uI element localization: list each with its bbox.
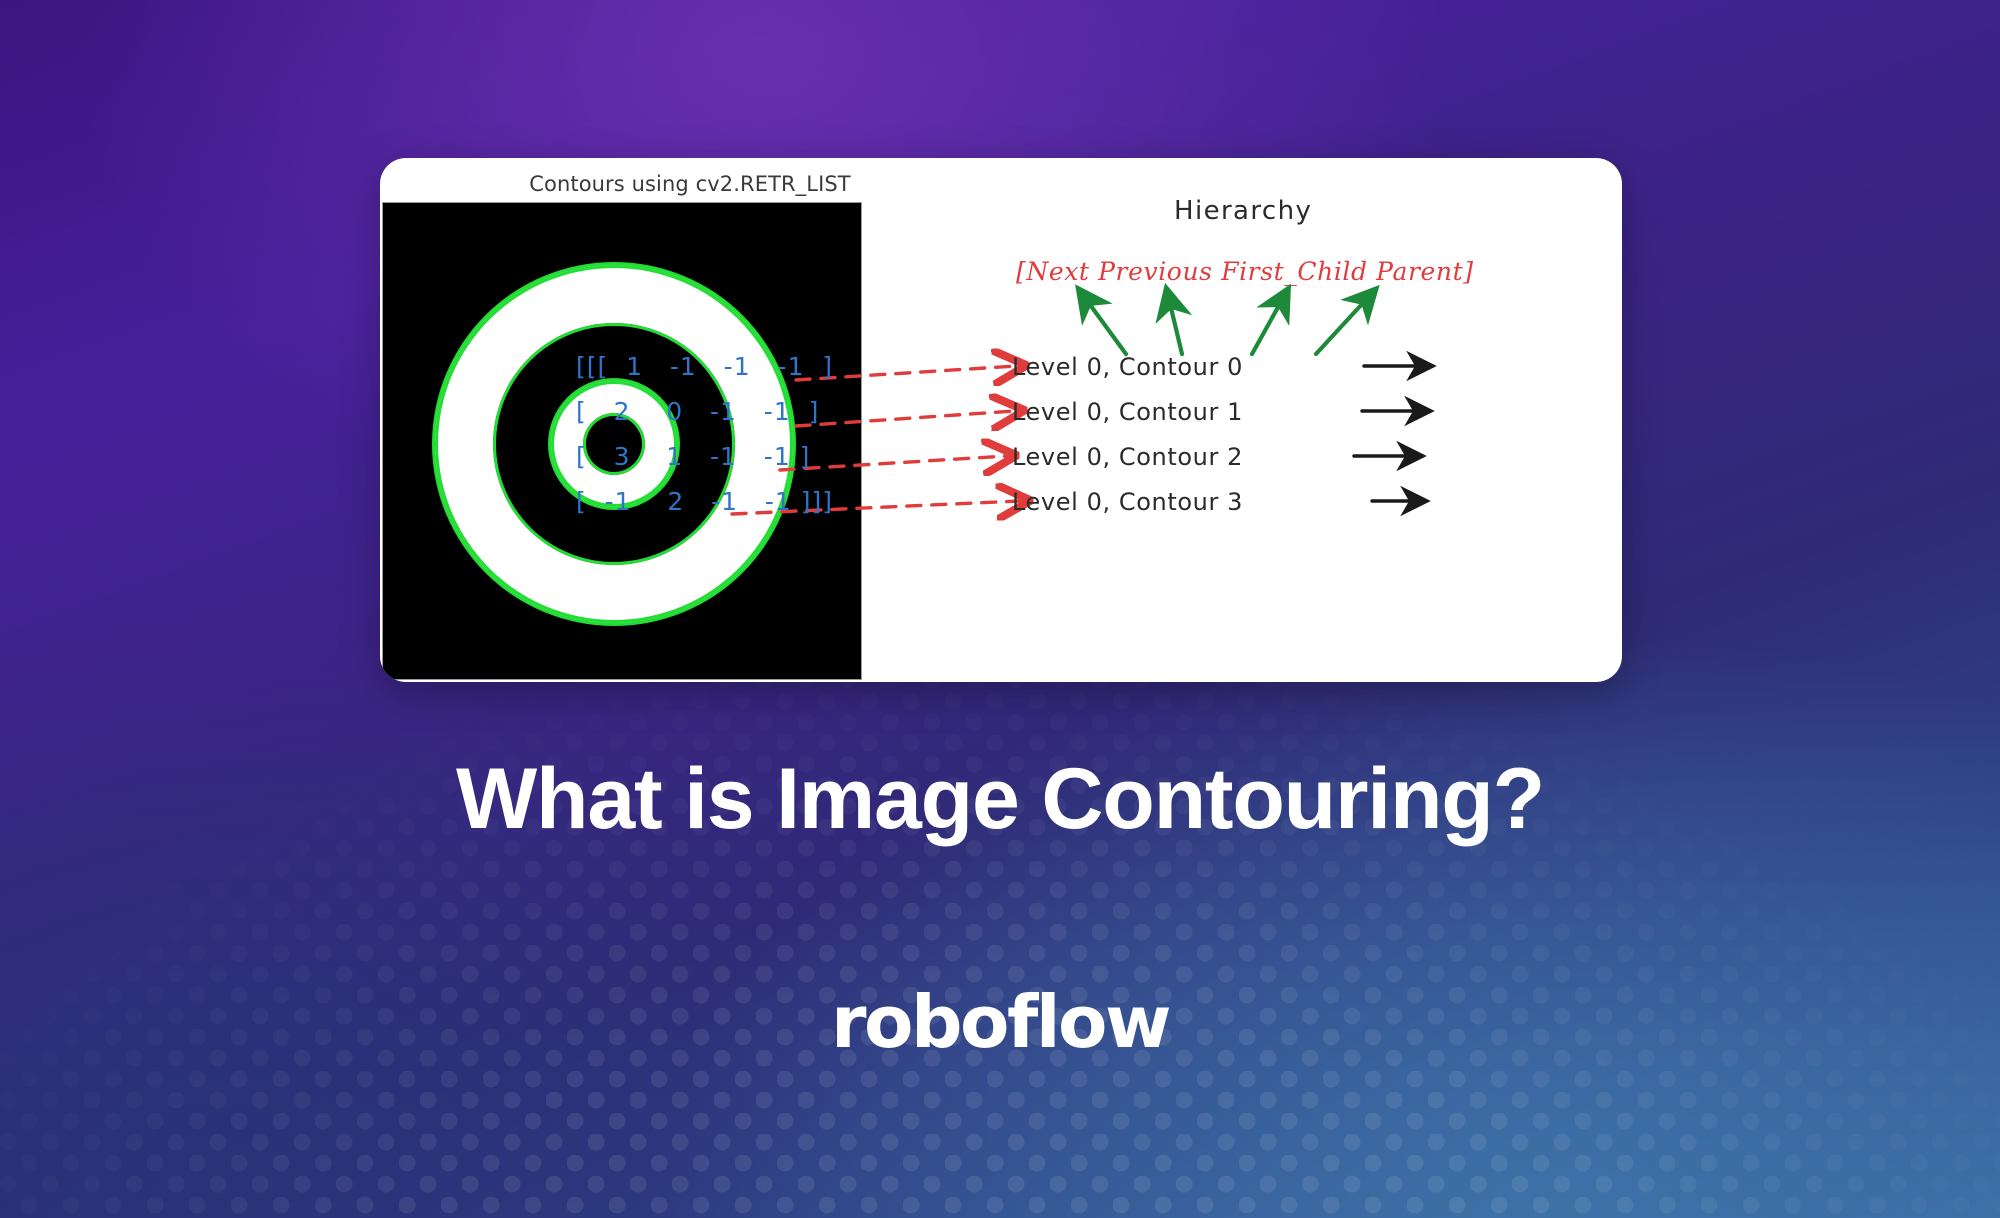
- roboflow-logo: roboflow: [0, 980, 2000, 1064]
- hierarchy-title: Hierarchy: [1174, 196, 1312, 226]
- hierarchy-row-label: Level 0, Contour 2: [1012, 443, 1243, 471]
- hierarchy-legend: [Next Previous First_Child Parent]: [1016, 257, 1474, 286]
- black-label-arrows: [1354, 366, 1430, 501]
- page-title: What is Image Contouring?: [0, 750, 2000, 849]
- hierarchy-row-code: [ 2 0 -1 -1 ]: [576, 397, 819, 426]
- hierarchy-row-code: [ -1 2 -1 -1 ]]]: [576, 487, 833, 516]
- hierarchy-row-code: [ 3 1 -1 -1 ]: [576, 442, 810, 471]
- hierarchy-row: [ 2 0 -1 -1 ] Level 0, Contour 1: [576, 389, 1243, 434]
- hierarchy-row-label: Level 0, Contour 0: [1012, 353, 1243, 381]
- hierarchy-row: [[[ 1 -1 -1 -1 ] Level 0, Contour 0: [576, 344, 1243, 389]
- hierarchy-row-label: Level 0, Contour 1: [1012, 398, 1243, 426]
- figure-title: Contours using cv2.RETR_LIST: [480, 172, 900, 196]
- hierarchy-row-code: [[[ 1 -1 -1 -1 ]: [576, 352, 833, 381]
- hierarchy-row-label: Level 0, Contour 3: [1012, 488, 1243, 516]
- figure-card: Contours using cv2.RETR_LIST Hierarchy […: [380, 158, 1622, 682]
- hierarchy-rows: [[[ 1 -1 -1 -1 ] Level 0, Contour 0 [ 2 …: [576, 344, 1243, 524]
- hierarchy-row: [ -1 2 -1 -1 ]]] Level 0, Contour 3: [576, 479, 1243, 524]
- hierarchy-row: [ 3 1 -1 -1 ] Level 0, Contour 2: [576, 434, 1243, 479]
